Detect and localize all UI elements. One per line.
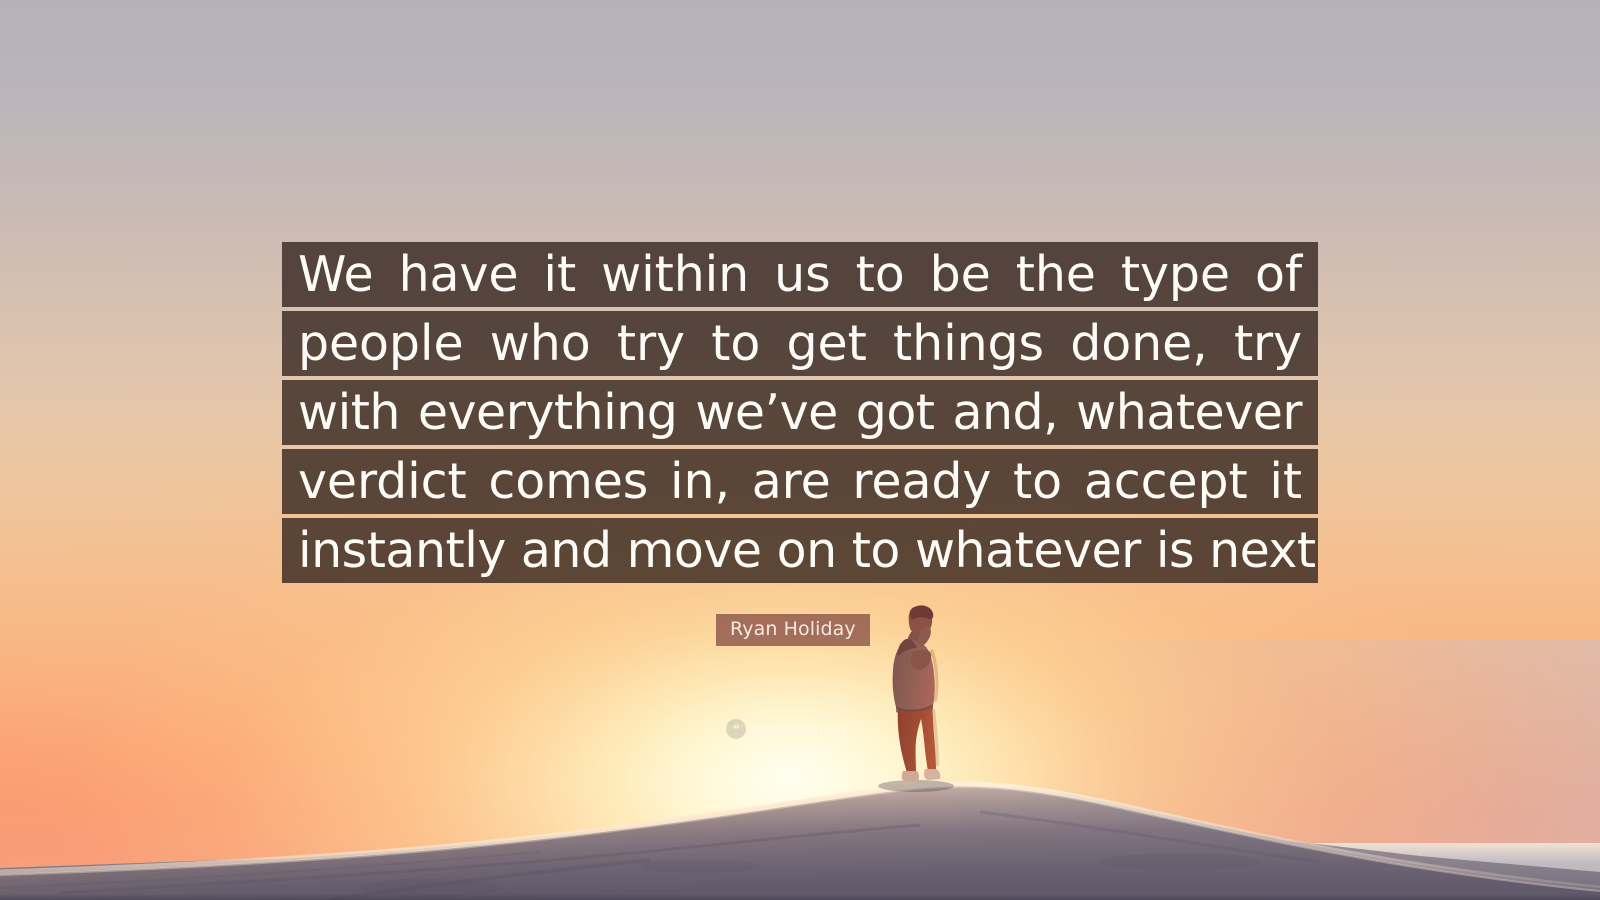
quotefancy-watermark: “ quotefancy (726, 719, 850, 739)
quote-poster: We have it within us to be the type of p… (0, 0, 1600, 900)
person-silhouette (884, 600, 946, 782)
quote-line: We have it within us to be the type of (282, 242, 1318, 307)
author-attribution: Ryan Holiday (716, 614, 870, 646)
quote-line: verdict comes in, are ready to accept it (282, 449, 1318, 514)
quote-mark-icon: “ (726, 719, 746, 739)
quote-line: instantly and move on to whatever is nex… (282, 518, 1318, 583)
quote-line: with everything we’ve got and, whatever (282, 380, 1318, 445)
bottom-vignette (0, 894, 1600, 900)
watermark-label: quotefancy (752, 719, 850, 739)
quote-line: people who try to get things done, try (282, 311, 1318, 376)
quote-text-block: We have it within us to be the type of p… (282, 242, 1318, 587)
